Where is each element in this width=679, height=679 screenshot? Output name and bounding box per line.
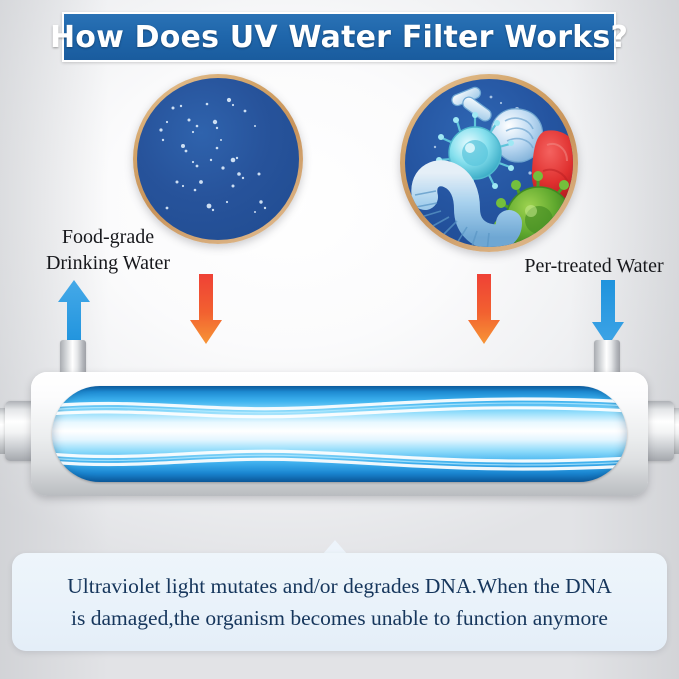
clean-water-flow-arrow [188,272,224,346]
dirty-water-inlet-arrow [590,278,626,348]
dirty-circle-disc [405,79,573,247]
contaminated-water-sample-circle [400,74,578,252]
page-title: How Does UV Water Filter Works? [50,20,628,55]
clean-water-label: Food-grade Drinking Water [20,225,196,276]
microorganisms-illustration [405,79,573,247]
clean-water-label-line2: Drinking Water [20,251,196,277]
pretreated-water-label: Per-treated Water [505,254,679,280]
dirty-water-flow-arrow [466,272,502,346]
title-banner: How Does UV Water Filter Works? [62,12,616,62]
uv-lamp-tube [52,386,627,482]
caption-line-1: Ultraviolet light mutates and/or degrade… [67,570,612,602]
infographic-canvas: How Does UV Water Filter Works? [0,0,679,679]
clean-water-specks-icon [137,78,299,240]
clean-water-sample-circle [133,74,303,244]
caption-text: Ultraviolet light mutates and/or degrade… [57,570,622,635]
water-wave-lines-icon [52,386,627,482]
clean-water-outlet-arrow [56,278,92,348]
caption-line-2: is damaged,the organism becomes unable t… [67,602,612,634]
caption-bubble: Ultraviolet light mutates and/or degrade… [12,553,667,651]
clean-circle-disc [137,78,299,240]
clean-water-label-line1: Food-grade [20,225,196,251]
